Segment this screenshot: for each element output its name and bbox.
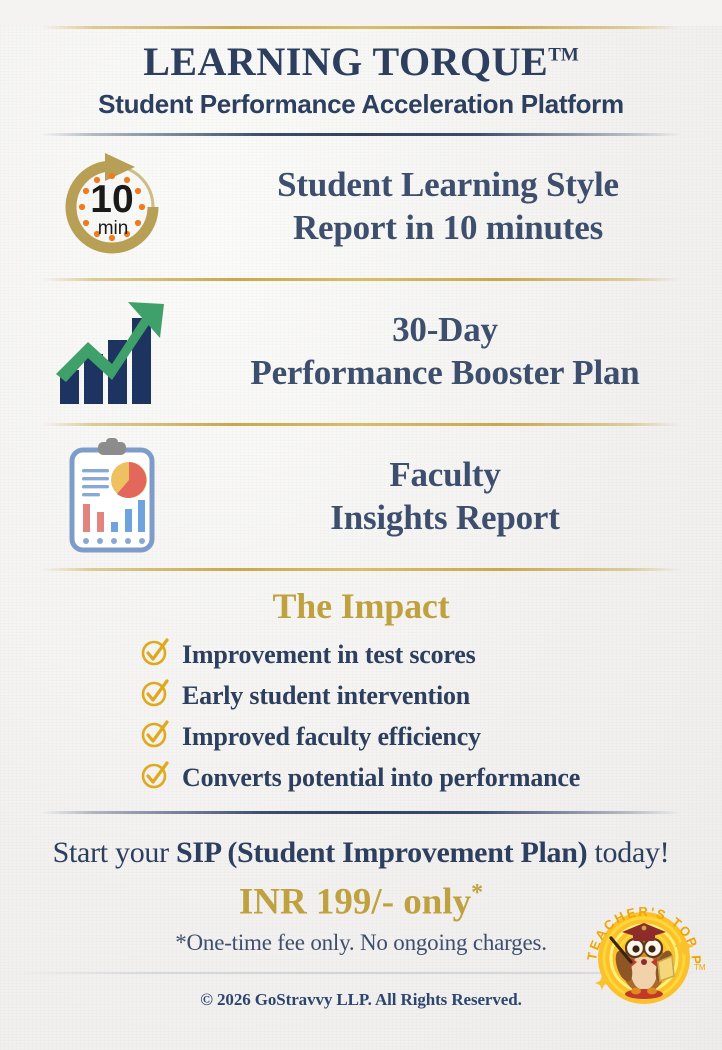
feature-row-faculty-insights: Faculty Insights Report: [0, 426, 722, 568]
price-value: INR 199/- only: [239, 881, 471, 922]
ten-minute-timer-icon: 10 min: [28, 151, 196, 263]
check-circle-icon: [140, 760, 170, 795]
list-item: Improvement in test scores: [140, 637, 722, 672]
feature-1-text: Student Learning Style Report in 10 minu…: [196, 164, 700, 249]
brand-name: LEARNING TORQUE: [143, 39, 548, 84]
feature-3-text: Faculty Insights Report: [196, 454, 700, 539]
check-circle-icon: [140, 719, 170, 754]
feature-row-learning-style: 10 min Student Learning Style Report in …: [0, 136, 722, 278]
cta-line: Start your SIP (Student Improvement Plan…: [0, 836, 722, 870]
impact-item-label: Converts potential into performance: [182, 763, 580, 793]
feature-2-line-2: Performance Booster Plan: [196, 352, 694, 395]
header: LEARNING TORQUETM Student Performance Ac…: [0, 26, 722, 136]
feature-1-line-1: Student Learning Style: [196, 164, 700, 207]
cta-suffix: today!: [587, 836, 669, 869]
cta-bold: SIP (Student Improvement Plan): [176, 836, 587, 869]
feature-2-text: 30-Day Performance Booster Plan: [196, 309, 700, 394]
list-item: Improved faculty efficiency: [140, 719, 722, 754]
impact-item-label: Early student intervention: [182, 681, 470, 711]
feature-row-booster-plan: 30-Day Performance Booster Plan: [0, 281, 722, 423]
brand-title: LEARNING TORQUETM: [0, 41, 722, 83]
impact-title: The Impact: [0, 585, 722, 627]
impact-section: The Impact Improvement in test scores: [0, 571, 722, 811]
list-item: Early student intervention: [140, 678, 722, 713]
divider-before-footer: [41, 811, 681, 814]
list-item: Converts potential into performance: [140, 760, 722, 795]
price-asterisk: *: [471, 880, 483, 906]
timer-minutes-unit: min: [98, 218, 129, 239]
check-circle-icon: [140, 637, 170, 672]
timer-minutes-value: 10: [90, 178, 133, 221]
flyer-page: LEARNING TORQUETM Student Performance Ac…: [0, 26, 722, 1050]
feature-3-line-2: Insights Report: [196, 497, 694, 540]
clipboard-report-icon: [28, 438, 196, 556]
feature-2-line-1: 30-Day: [196, 309, 694, 352]
feature-3-line-1: Faculty: [196, 454, 694, 497]
feature-1-line-2: Report in 10 minutes: [196, 207, 700, 250]
teachers-top-pick-owl-badge: TEACHER'S TOP PICK: [578, 892, 708, 1014]
brand-tagline: Student Performance Acceleration Platfor…: [0, 89, 722, 120]
check-circle-icon: [140, 678, 170, 713]
growth-bar-chart-icon: [28, 296, 196, 408]
impact-item-label: Improved faculty efficiency: [182, 722, 481, 752]
header-top-divider: [41, 26, 681, 29]
cta-prefix: Start your: [53, 836, 176, 869]
impact-item-label: Improvement in test scores: [182, 640, 476, 670]
impact-list: Improvement in test scores Early student…: [0, 637, 722, 795]
badge-trademark: TM: [694, 963, 706, 972]
footer: Start your SIP (Student Improvement Plan…: [0, 836, 722, 1010]
trademark-symbol: TM: [548, 45, 579, 66]
